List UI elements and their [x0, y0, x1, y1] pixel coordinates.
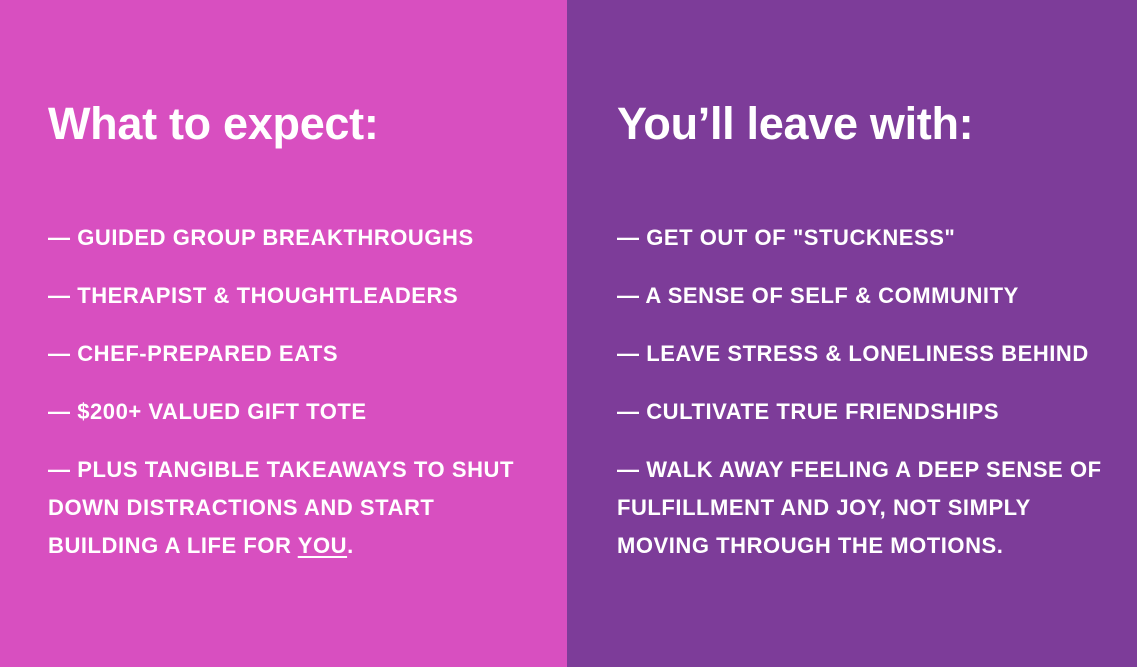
- em-dash-marker: —: [617, 341, 646, 366]
- list-item: — GET OUT OF "STUCKNESS": [617, 219, 1119, 257]
- em-dash-marker: —: [617, 283, 645, 308]
- closing-text-lead: PLUS TANGIBLE TAKEAWAYS TO SHUT DOWN DIS…: [48, 457, 514, 558]
- right-panel-youll-leave-with: You’ll leave with: — GET OUT OF "STUCKNE…: [567, 0, 1137, 667]
- em-dash-marker: —: [48, 399, 77, 424]
- list-item-label: $200+ VALUED GIFT TOTE: [77, 399, 366, 424]
- list-item-label: CHEF-PREPARED EATS: [77, 341, 338, 366]
- closing-text-emphasis: YOU: [298, 533, 347, 558]
- em-dash-marker: —: [617, 457, 646, 482]
- list-item-label: CULTIVATE TRUE FRIENDSHIPS: [646, 399, 999, 424]
- right-panel-heading: You’ll leave with:: [617, 101, 973, 146]
- two-column-panel-layout: What to expect: — GUIDED GROUP BREAKTHRO…: [0, 0, 1137, 667]
- list-item-label: THERAPIST & THOUGHTLEADERS: [77, 283, 458, 308]
- list-item: — CHEF-PREPARED EATS: [48, 335, 543, 373]
- list-item-closing: — PLUS TANGIBLE TAKEAWAYS TO SHUT DOWN D…: [48, 451, 543, 565]
- list-item-label: A SENSE OF SELF & COMMUNITY: [645, 283, 1018, 308]
- closing-text-trail: .: [347, 533, 354, 558]
- list-item-closing: — WALK AWAY FEELING A DEEP SENSE OF FULF…: [617, 451, 1119, 565]
- closing-text: WALK AWAY FEELING A DEEP SENSE OF FULFIL…: [617, 457, 1102, 558]
- list-item: — LEAVE STRESS & LONELINESS BEHIND: [617, 335, 1119, 373]
- list-item: — A SENSE OF SELF & COMMUNITY: [617, 277, 1119, 315]
- list-item-label: GUIDED GROUP BREAKTHROUGHS: [77, 225, 473, 250]
- list-item: — $200+ VALUED GIFT TOTE: [48, 393, 543, 431]
- right-panel-item-list: — GET OUT OF "STUCKNESS" — A SENSE OF SE…: [617, 219, 1119, 565]
- em-dash-marker: —: [617, 399, 646, 424]
- left-panel-item-list: — GUIDED GROUP BREAKTHROUGHS — THERAPIST…: [48, 219, 543, 565]
- em-dash-marker: —: [48, 457, 77, 482]
- list-item: — GUIDED GROUP BREAKTHROUGHS: [48, 219, 543, 257]
- list-item: — THERAPIST & THOUGHTLEADERS: [48, 277, 543, 315]
- em-dash-marker: —: [617, 225, 646, 250]
- em-dash-marker: —: [48, 341, 77, 366]
- left-panel-heading: What to expect:: [48, 101, 379, 146]
- list-item: — CULTIVATE TRUE FRIENDSHIPS: [617, 393, 1119, 431]
- em-dash-marker: —: [48, 225, 77, 250]
- left-panel-what-to-expect: What to expect: — GUIDED GROUP BREAKTHRO…: [0, 0, 567, 667]
- list-item-label: GET OUT OF "STUCKNESS": [646, 225, 955, 250]
- em-dash-marker: —: [48, 283, 77, 308]
- list-item-label: LEAVE STRESS & LONELINESS BEHIND: [646, 341, 1089, 366]
